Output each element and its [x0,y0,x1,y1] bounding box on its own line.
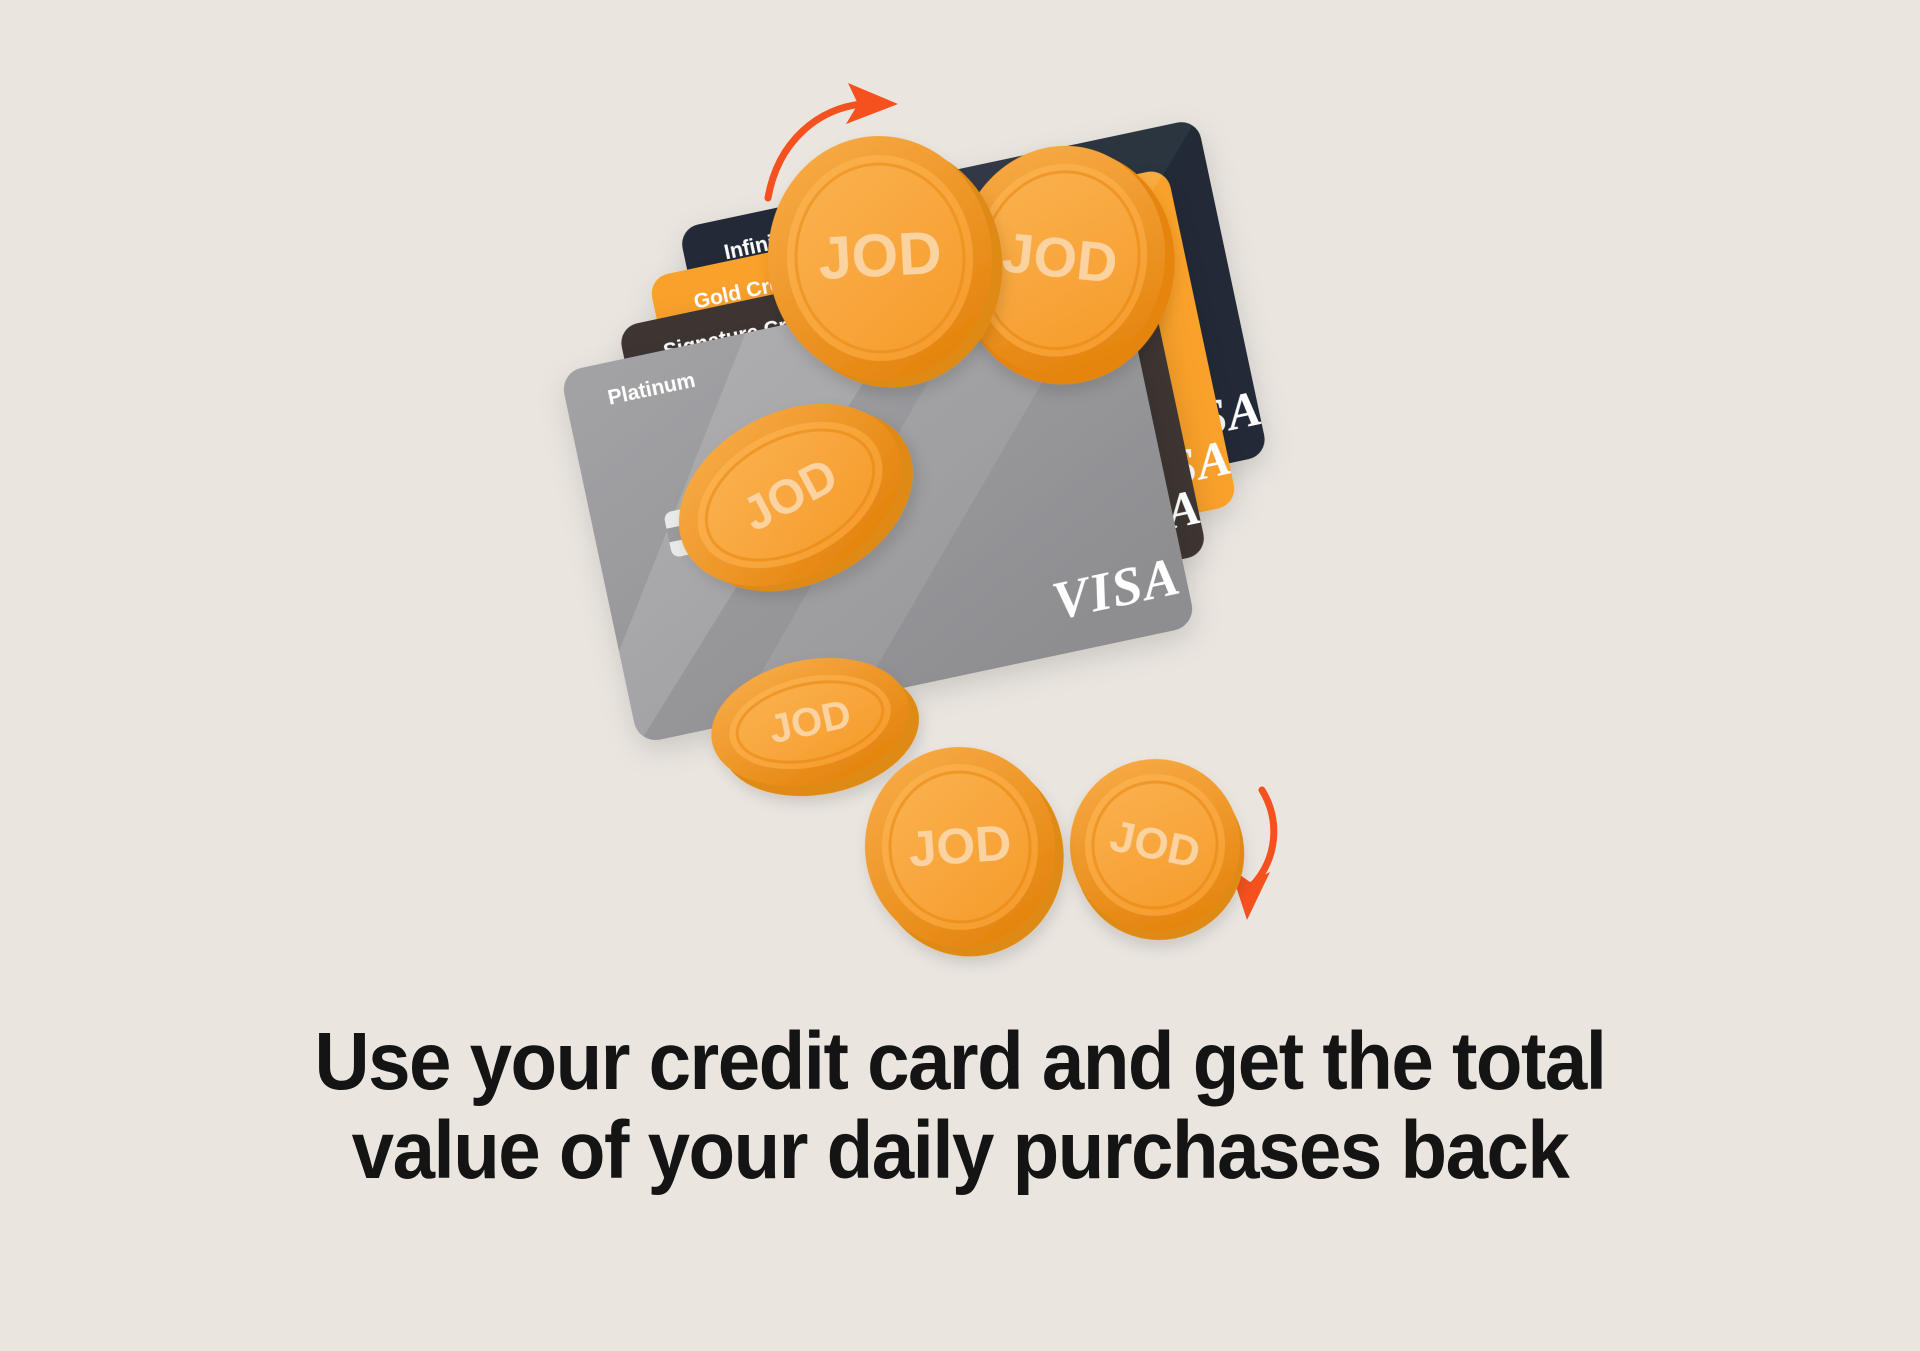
promo-banner: Infinite VISA Gold Credit VISA [0,0,1920,1351]
coin-bottom-left: JOD [858,740,1070,963]
headline-line-2: value of your daily purchases back [67,1107,1853,1196]
credit-cards-illustration: Infinite VISA Gold Credit VISA [0,0,1920,1010]
headline-line-1: Use your credit card and get the total [67,1018,1853,1107]
coin-bottom-right: JOD [1052,743,1262,956]
coin-label: JOD [999,220,1120,295]
coin-label: JOD [907,814,1013,877]
coin-label: JOD [817,219,944,292]
headline: Use your credit card and get the total v… [67,1018,1853,1195]
